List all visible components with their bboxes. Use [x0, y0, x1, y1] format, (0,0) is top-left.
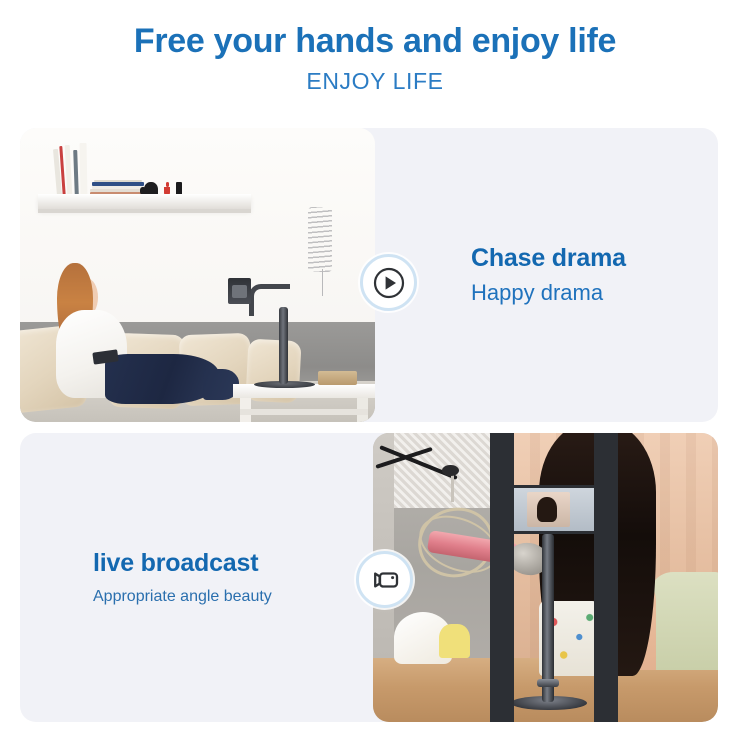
feature-card-chase-drama[interactable]: Chase drama Happy drama	[20, 128, 718, 422]
table-lower-shelf	[240, 409, 368, 415]
phone-stand-pole	[542, 534, 554, 702]
page-title: Free your hands and enjoy life	[0, 22, 750, 60]
wall-shelf-edge	[38, 209, 251, 213]
feature-title: Chase drama	[471, 243, 718, 274]
shelf-books	[45, 134, 251, 196]
person-legs	[105, 354, 219, 404]
phone-screen	[527, 492, 570, 527]
phone-stand-joint	[537, 679, 559, 688]
coiled-cord	[308, 207, 333, 272]
page-header: Free your hands and enjoy life ENJOY LIF…	[0, 0, 750, 118]
feature-text-chase-drama: Chase drama Happy drama	[375, 128, 718, 422]
promo-page: Free your hands and enjoy life ENJOY LIF…	[0, 0, 750, 750]
phone-stand-gooseneck	[249, 284, 290, 316]
phone-stand-clamp	[228, 278, 251, 304]
phone-grip-right	[594, 433, 618, 722]
living-room-scene	[20, 128, 375, 422]
feature-card-live-broadcast[interactable]: live broadcast Appropriate angle beauty	[20, 433, 718, 722]
feature-subtitle: Appropriate angle beauty	[93, 587, 272, 607]
feature-title: live broadcast	[93, 548, 258, 579]
wall-shelf	[38, 194, 251, 210]
cord-tail	[322, 269, 324, 295]
page-subtitle: ENJOY LIFE	[0, 69, 750, 94]
feature-subtitle: Happy drama	[471, 279, 718, 307]
chair	[649, 572, 718, 670]
table-object	[318, 371, 357, 386]
play-circle-icon[interactable]	[360, 254, 417, 311]
mic-hanger	[451, 473, 454, 502]
studio-scene	[373, 433, 718, 722]
desk-lamp-shade	[439, 624, 470, 659]
feature-image-live-broadcast	[373, 433, 718, 722]
feature-text-live-broadcast: live broadcast Appropriate angle beauty	[20, 433, 373, 722]
phone-grip-left	[490, 433, 514, 722]
phone-stand-pole	[279, 307, 288, 383]
feature-image-chase-drama	[20, 128, 375, 422]
video-camera-icon[interactable]	[356, 551, 413, 608]
